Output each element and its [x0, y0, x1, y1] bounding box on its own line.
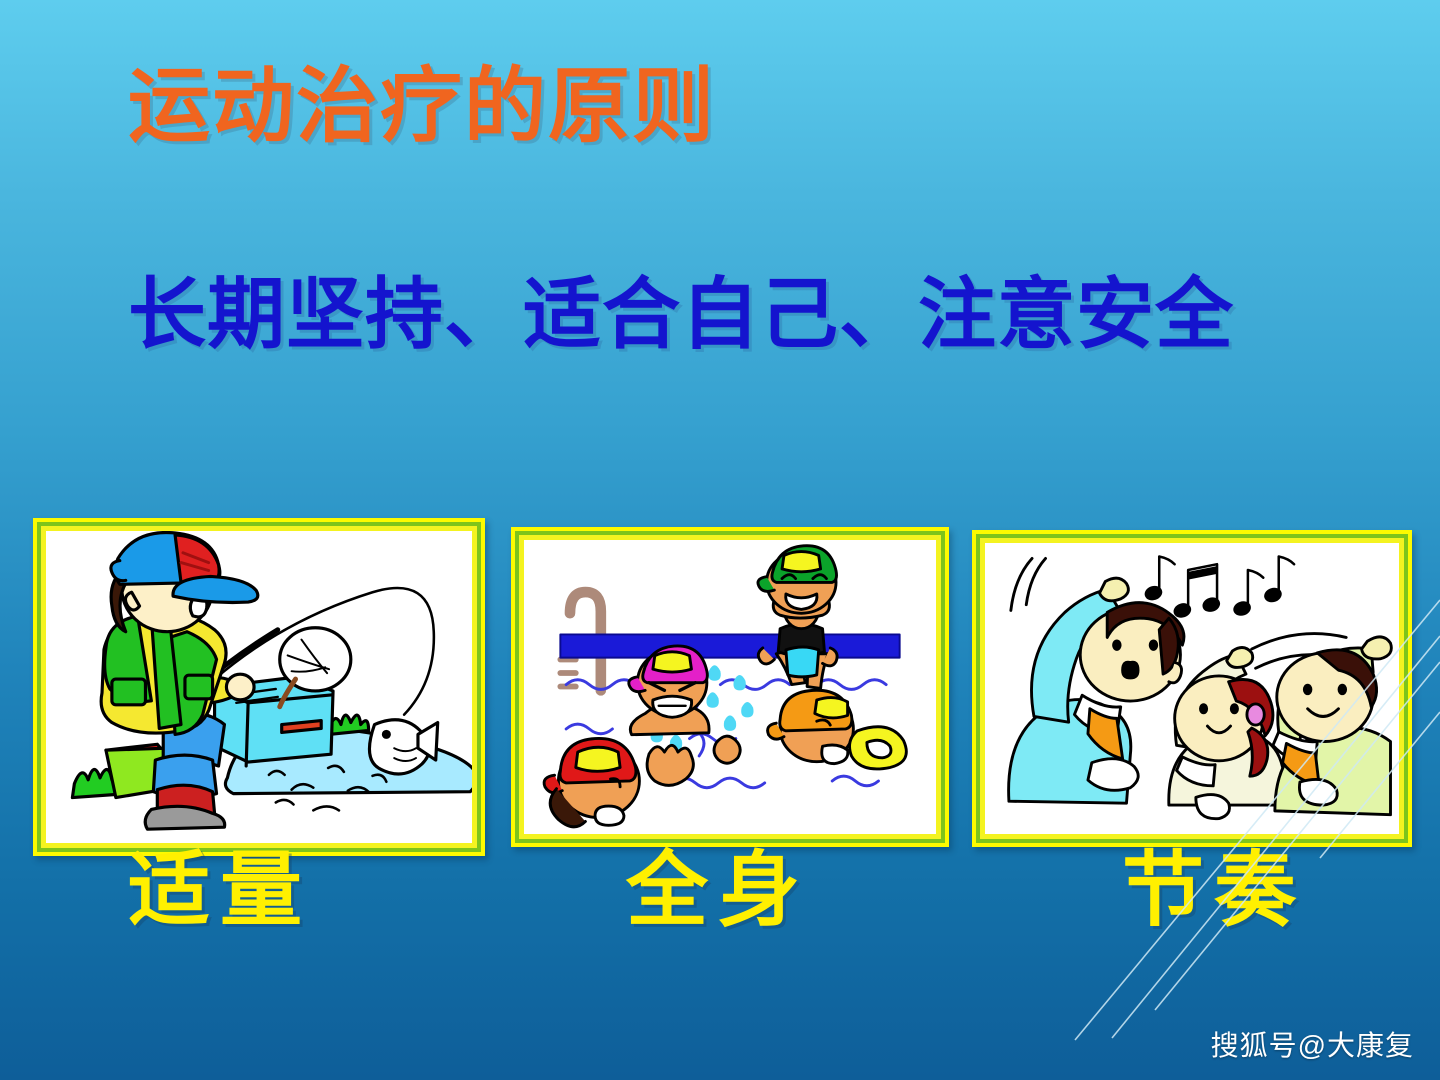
- page-title: 运动治疗的原则: [128, 66, 716, 148]
- panel-caption-1: 适量: [128, 850, 312, 932]
- frame-border-yellow: [519, 535, 941, 839]
- boy-fishing-illustration: [46, 531, 472, 843]
- picture-frame-swimming: [511, 527, 949, 847]
- slide-canvas: 运动治疗的原则 长期坚持、适合自己、注意安全: [0, 0, 1440, 1080]
- children-swimming-illustration: [524, 540, 936, 834]
- picture-frame-fishing: [33, 518, 485, 856]
- watermark-label: 搜狐号@大康复: [1211, 1024, 1414, 1064]
- frame-border-yellow: [980, 538, 1404, 839]
- frame-canvas: [985, 543, 1399, 834]
- panel-caption-2: 全身: [626, 850, 810, 932]
- picture-frame-exercise: [972, 530, 1412, 847]
- frame-border-yellow: [41, 526, 477, 848]
- frame-canvas: [46, 531, 472, 843]
- frame-border-green: [515, 531, 945, 843]
- panel-caption-3: 节奏: [1122, 850, 1306, 932]
- frame-border-green: [37, 522, 481, 852]
- frame-canvas: [524, 540, 936, 834]
- page-subtitle: 长期坚持、适合自己、注意安全: [128, 275, 1234, 353]
- frame-border-green: [976, 534, 1408, 843]
- group-exercise-illustration: [985, 543, 1399, 834]
